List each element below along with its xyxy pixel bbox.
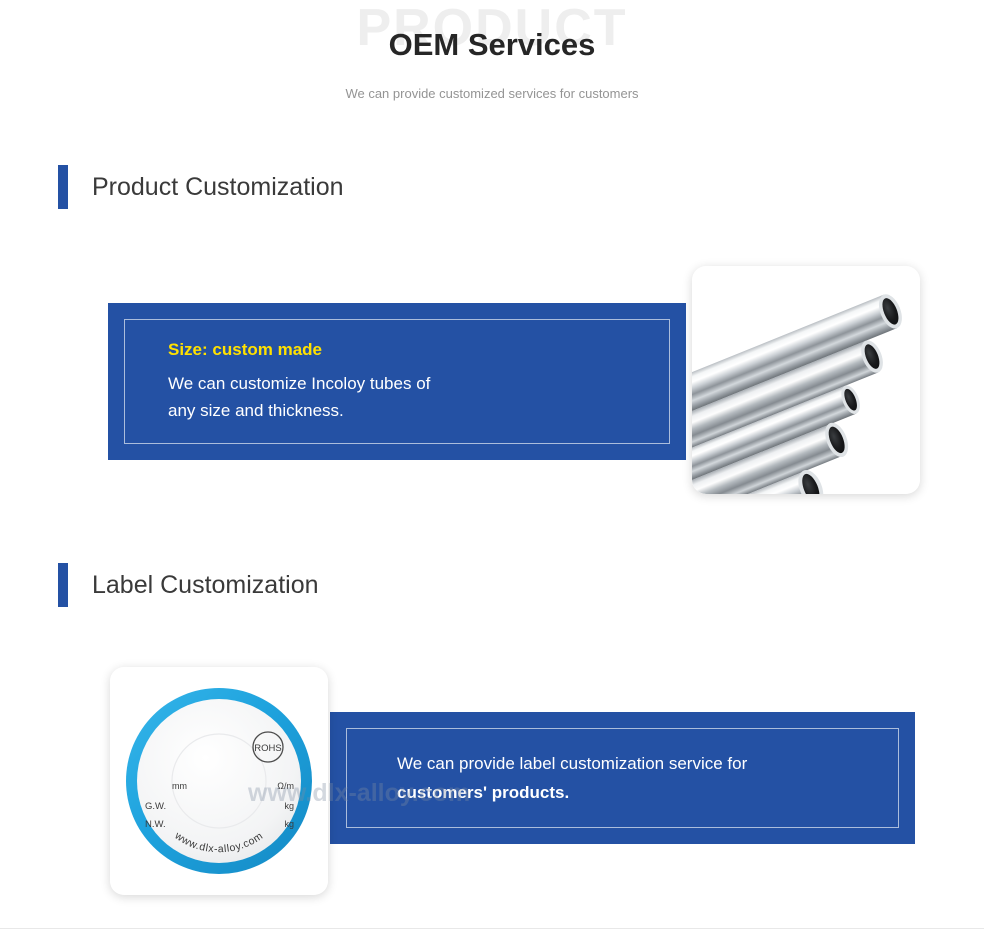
panel-description-line-2: customers' products. [397,778,878,807]
disc-label-kg-2: kg [284,819,294,829]
heading-accent-bar [58,165,68,209]
panel-size-title: Size: custom made [168,338,649,363]
label-customization-panel: We can provide label customization servi… [330,712,915,844]
panel-inner-border: We can provide label customization servi… [346,728,899,828]
label-image-card: ROHS mm G.W. N.W. Ω/m kg kg www.dlx-allo… [110,667,328,895]
oem-services-page: PRODUCT OEM Services We can provide cust… [0,0,984,940]
section-heading-label: Label Customization [92,573,319,598]
bottom-divider [0,928,984,929]
page-title: OEM Services [0,26,984,63]
disc-label-kg-1: kg [284,801,294,811]
product-customization-panel: Size: custom made We can customize Incol… [108,303,686,460]
panel-description-line-1: We can customize Incoloy tubes of [168,370,649,398]
page-header: PRODUCT OEM Services We can provide cust… [0,0,984,120]
panel-description-line-2: any size and thickness. [168,397,649,425]
product-image-card [692,266,920,494]
section-heading-label: Product Customization [92,175,344,200]
product-label-disc-image: ROHS mm G.W. N.W. Ω/m kg kg www.dlx-allo… [110,667,328,895]
steel-tubes-image [692,266,920,494]
disc-label-net-weight: N.W. [145,819,166,830]
section-heading-product-customization: Product Customization [58,165,344,209]
disc-label-gross-weight: G.W. [145,801,166,812]
heading-accent-bar [58,563,68,607]
page-subtitle: We can provide customized services for c… [0,85,984,103]
disc-label-mm: mm [172,781,187,791]
rohs-label: ROHS [254,743,281,754]
panel-inner-border: Size: custom made We can customize Incol… [124,319,670,444]
panel-description-line-1: We can provide label customization servi… [397,749,878,778]
section-heading-label-customization: Label Customization [58,563,319,607]
disc-label-ohm-per-m: Ω/m [277,781,294,791]
